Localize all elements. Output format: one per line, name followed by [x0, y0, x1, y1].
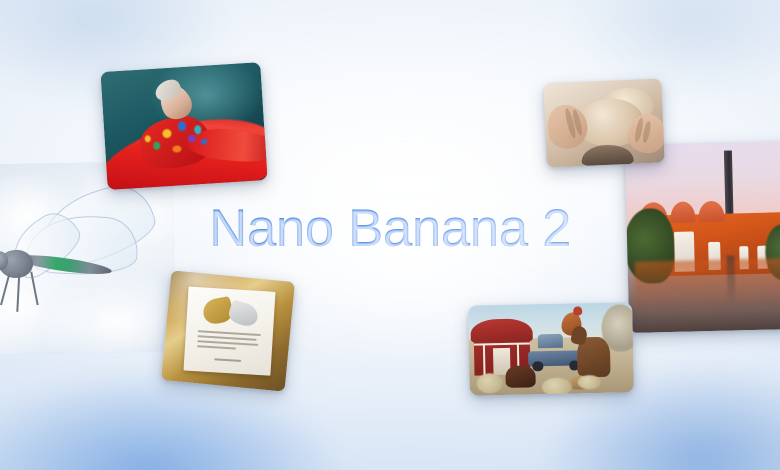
certificate-paper [183, 287, 275, 376]
truck-cab [538, 334, 563, 349]
card-industrial-building [625, 141, 780, 333]
card-gold-certificate [161, 270, 295, 391]
dragonfly-scene [0, 161, 176, 355]
text-line [197, 346, 236, 350]
card-person-red-outfit [100, 62, 267, 190]
card-farm-scene [468, 302, 634, 395]
person-scene [100, 62, 267, 190]
certificate-scene [161, 270, 295, 391]
heart-hands-icon [202, 296, 259, 329]
barn-roof [470, 319, 533, 343]
building-reflection [634, 258, 780, 311]
heart-hand-silver [227, 299, 261, 329]
card-dragonfly [0, 161, 176, 355]
confetti-cyan [194, 125, 202, 134]
bread-scene [543, 78, 665, 167]
certificate-signature [213, 359, 241, 363]
truck-wheel-front [533, 362, 544, 371]
cow [505, 366, 535, 388]
promo-banner: Nano Banana 2 [0, 0, 780, 470]
building-scene [625, 141, 780, 333]
blue-pickup-truck [528, 343, 584, 371]
farm-scene [468, 302, 634, 395]
hay-bale-2 [542, 377, 572, 395]
card-bread-dough [543, 78, 665, 167]
certificate-body-text [197, 331, 261, 355]
chimney-reflection [727, 255, 736, 304]
